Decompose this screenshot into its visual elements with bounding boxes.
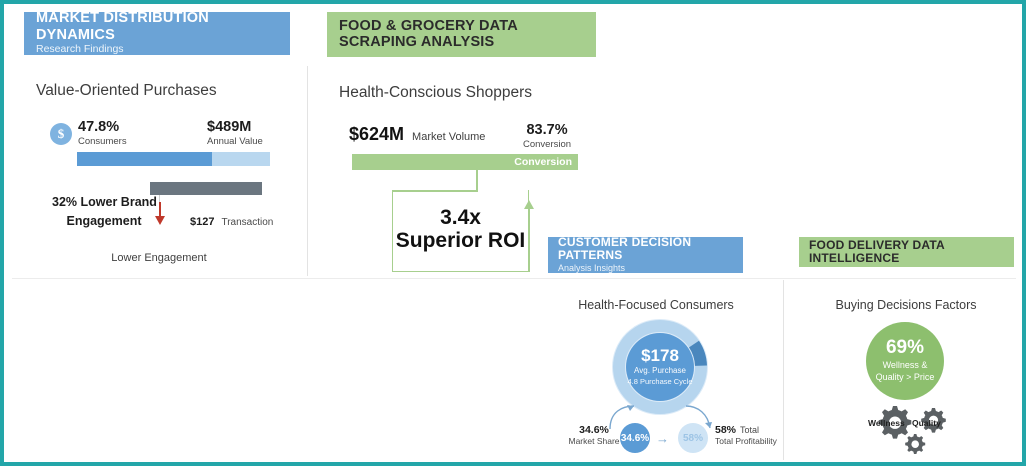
bottom-right-stat: 58% Total Total Profitability — [715, 424, 777, 446]
center-conversion-block: 83.7% Conversion — [523, 122, 571, 150]
bottom-right-stat-value: 58% — [715, 424, 736, 436]
center-market-volume-value: $624M — [349, 124, 404, 145]
roi-connector-line — [476, 170, 478, 191]
wellness-quality-line1: Wellness & — [883, 359, 928, 371]
left-progress-bar-fill — [77, 152, 212, 166]
gear-label-quality: Quality — [912, 418, 941, 428]
bottom-center-sub-title: Health-Focused Consumers — [545, 298, 767, 312]
center-market-volume-block: $624M Market Volume — [349, 124, 485, 145]
left-annual-value: $489M — [207, 119, 263, 135]
left-consumers-stat: 47.8% Consumers — [78, 119, 127, 147]
bottom-left-stat: 34.6% Market Share — [564, 424, 624, 446]
banner-customer-subtitle: Analysis Insights — [558, 263, 735, 273]
donut-core: $178 Avg. Purchase 4.8 Purchase Cycle — [626, 333, 694, 401]
roi-label: Superior ROI — [396, 229, 526, 253]
donut-line1: Avg. Purchase — [634, 366, 686, 377]
bottom-left-stat-label: Market Share — [564, 436, 624, 446]
bubble-profitability-label: 58% — [683, 433, 703, 444]
wellness-quality-circle: 69% Wellness & Quality > Price — [866, 322, 944, 400]
bubble-market-share-label: 34.6% — [621, 433, 649, 444]
left-progress-bar — [77, 152, 270, 166]
banner-delivery-title: FOOD DELIVERY DATA INTELLIGENCE — [809, 239, 1006, 266]
center-conversion-bar: Conversion — [352, 154, 578, 170]
banner-food-delivery: FOOD DELIVERY DATA INTELLIGENCE — [799, 237, 1014, 267]
left-transaction-value: $127 — [190, 216, 214, 228]
left-arrow-caption-text: Lower Engagement — [111, 252, 206, 264]
banner-customer-decision: CUSTOMER DECISION PATTERNS Analysis Insi… — [548, 237, 743, 273]
divider-center-right — [783, 280, 784, 460]
banner-food-title: FOOD & GROCERY DATA SCRAPING ANALYSIS — [339, 18, 586, 50]
left-engagement-text: Lower Brand — [81, 195, 157, 209]
left-transaction-label: Transaction — [221, 217, 273, 228]
left-consumers-value: 47.8% — [78, 119, 127, 135]
wellness-quality-value: 69% — [886, 338, 924, 359]
bottom-right-stat-word: Total — [740, 425, 759, 435]
donut-value: $178 — [641, 347, 679, 366]
donut-line2: 4.8 Purchase Cycle — [627, 377, 692, 387]
roi-value: 3.4x — [440, 207, 481, 229]
left-annual-label: Annual Value — [207, 136, 263, 147]
bottom-right-stat-label: Total Profitability — [715, 436, 777, 446]
infographic-canvas: MARKET DISTRIBUTION DYNAMICS Research Fi… — [0, 0, 1026, 466]
bubble-profitability: 58% — [678, 423, 708, 453]
left-transaction-block: $127 Transaction — [190, 216, 273, 228]
arrow-stem-red — [159, 202, 161, 217]
banner-customer-title: CUSTOMER DECISION PATTERNS — [558, 236, 735, 263]
divider-left-center — [307, 66, 308, 276]
up-arrow-icon — [524, 200, 534, 209]
banner-market-subtitle: Research Findings — [36, 44, 280, 56]
left-engagement-block: 32% Lower Brand Engagement — [52, 192, 156, 229]
bottom-left-stat-value: 34.6% — [564, 424, 624, 436]
left-annual-stat: $489M Annual Value — [207, 119, 263, 147]
right-sub-title: Buying Decisions Factors — [797, 298, 1015, 312]
center-conversion-bar-label: Conversion — [514, 156, 572, 168]
wellness-quality-line2: Quality > Price — [876, 371, 935, 383]
dollar-coin-icon: $ — [50, 123, 72, 145]
gear-cluster — [862, 400, 982, 462]
left-engagement-pct: 32% — [52, 195, 77, 209]
banner-market-title: MARKET DISTRIBUTION DYNAMICS — [36, 10, 280, 42]
banner-market-distribution: MARKET DISTRIBUTION DYNAMICS Research Fi… — [24, 12, 290, 55]
center-conversion-label: Conversion — [523, 139, 571, 150]
left-gray-bar — [150, 182, 262, 195]
center-conversion-value: 83.7% — [523, 122, 571, 138]
left-section-title: Value-Oriented Purchases — [36, 82, 217, 100]
roi-right-stem — [528, 208, 530, 272]
gear-label-wellness: Wellness — [868, 418, 905, 428]
divider-horizontal — [12, 278, 1016, 279]
bubble-market-share: 34.6% — [620, 423, 650, 453]
gear-icon — [905, 434, 925, 454]
center-market-volume-label: Market Volume — [412, 131, 485, 143]
bubble-connector-arrow-icon: → — [656, 432, 669, 445]
roi-callout: 3.4x Superior ROI — [392, 190, 529, 272]
left-engagement-text2: Engagement — [52, 213, 156, 229]
center-section-title: Health-Conscious Shoppers — [339, 84, 532, 102]
down-arrow-icon — [155, 216, 165, 225]
left-consumers-label: Consumers — [78, 136, 127, 147]
banner-food-grocery: FOOD & GROCERY DATA SCRAPING ANALYSIS — [327, 12, 596, 57]
left-arrow-caption: Lower Engagement — [109, 248, 209, 266]
